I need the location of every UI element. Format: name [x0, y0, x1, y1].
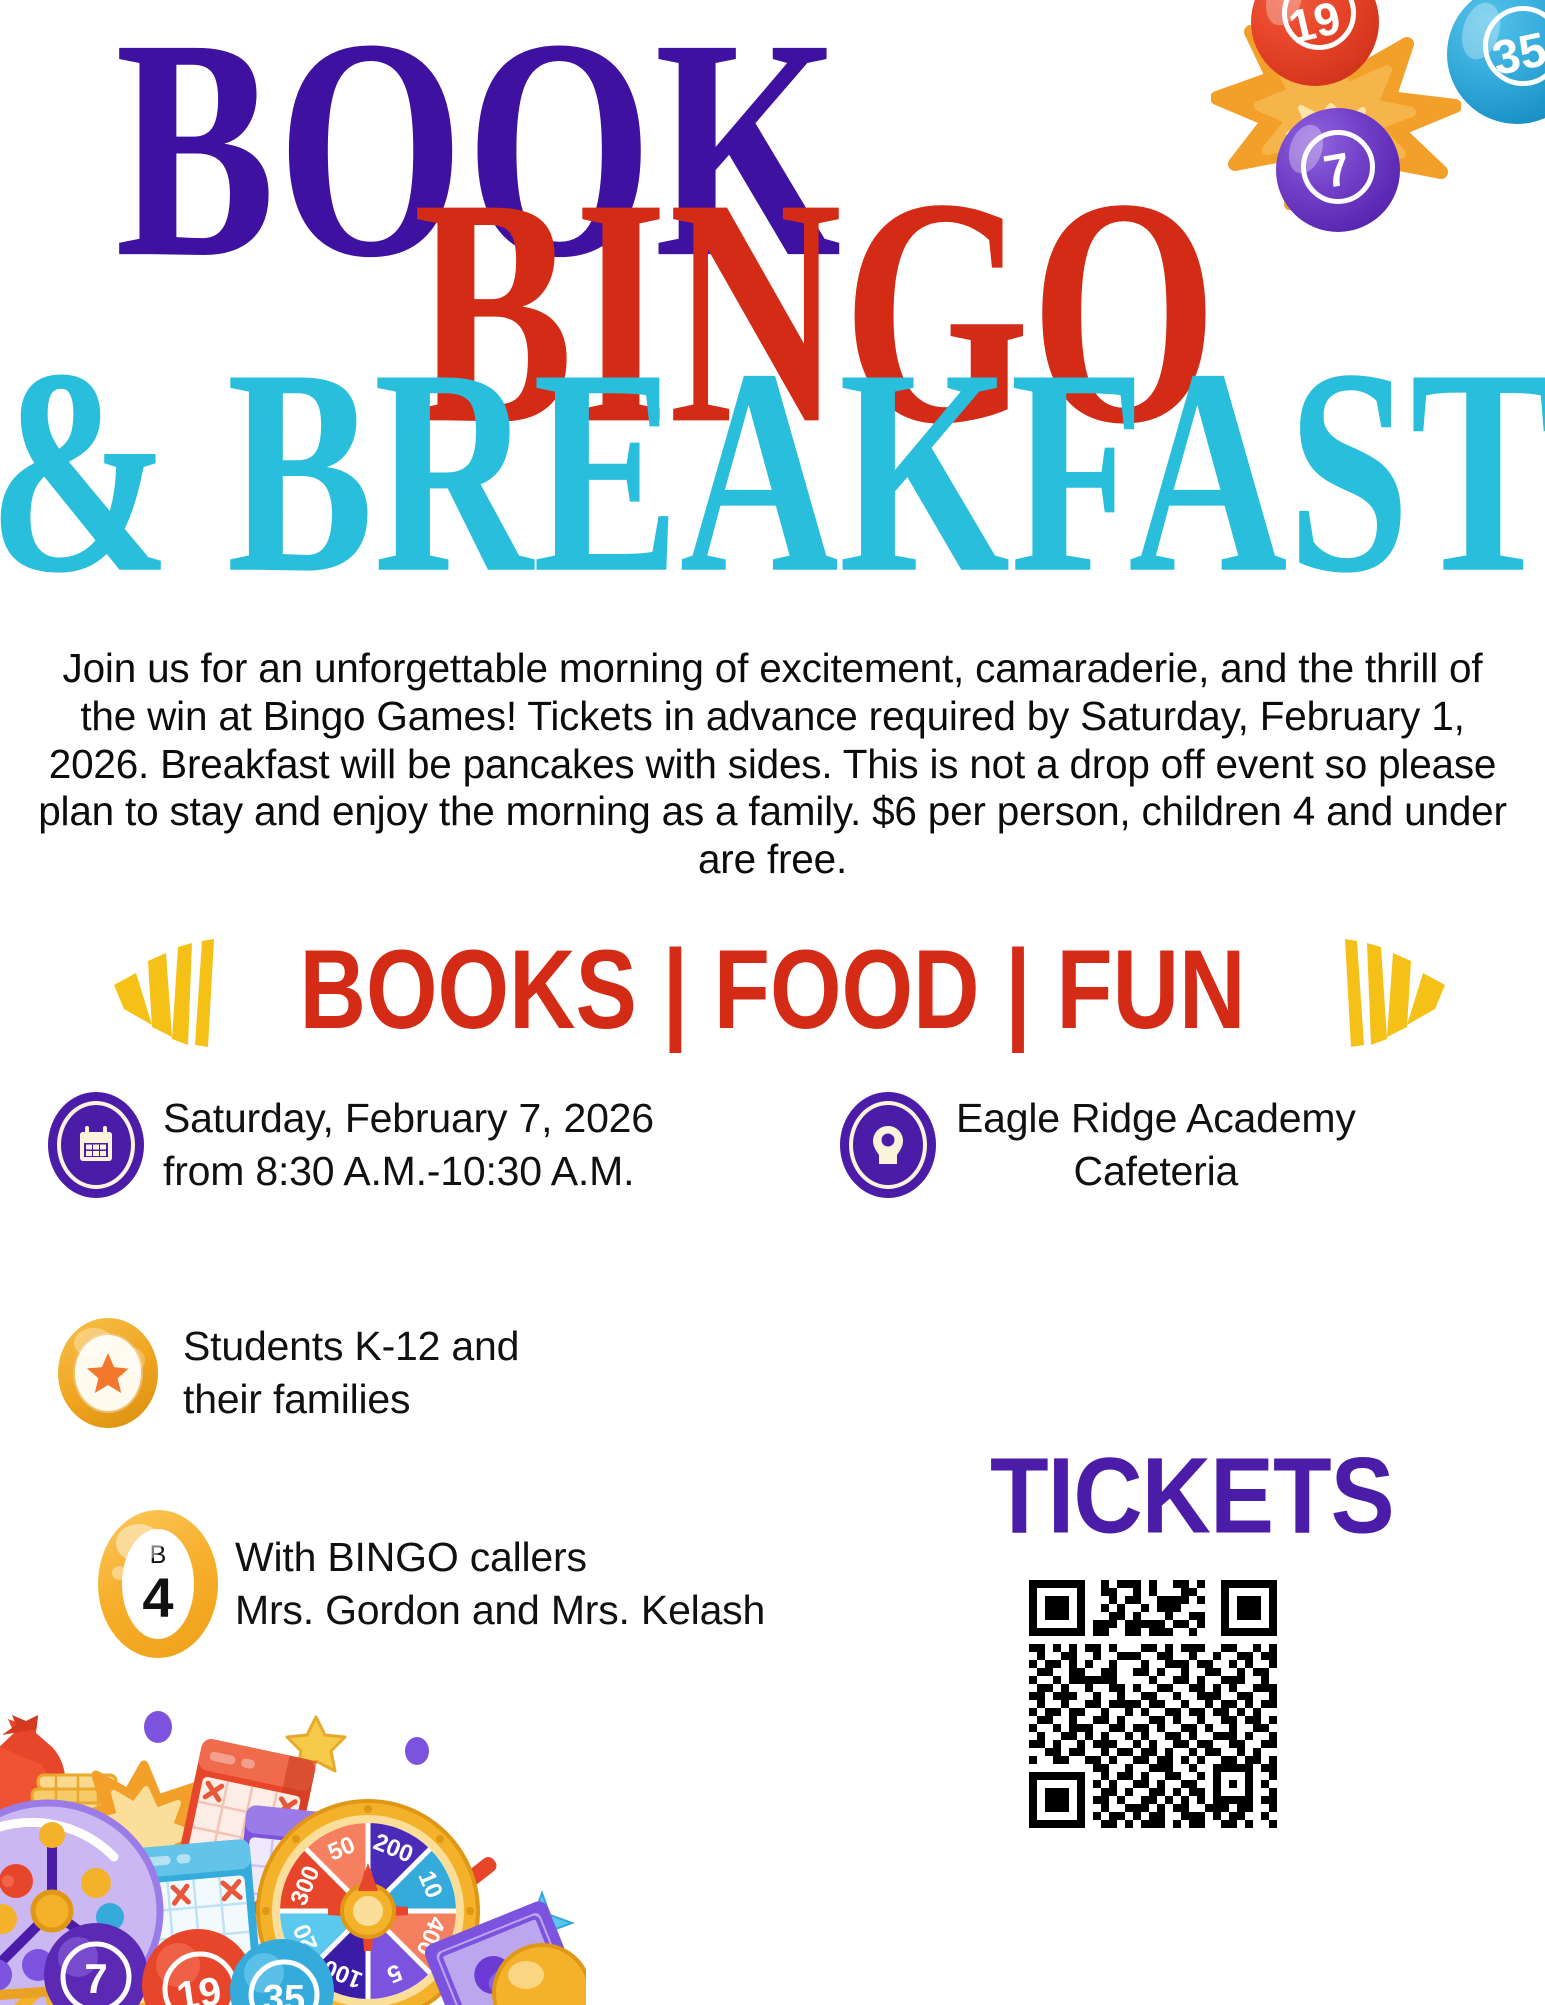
- detail-text-date: Saturday, February 7, 2026 from 8:30 A.M…: [163, 1092, 654, 1199]
- detail-text-location: Eagle Ridge Academy Cafeteria: [956, 1092, 1356, 1199]
- body-paragraph: Join us for an unforgettable morning of …: [30, 645, 1515, 884]
- detail-location-line1: Eagle Ridge Academy: [956, 1092, 1356, 1145]
- detail-row-audience: Students K-12 and their families: [58, 1318, 519, 1428]
- decoration-bingo-ball-7: 7: [1276, 108, 1400, 232]
- calendar-icon: [48, 1092, 144, 1198]
- detail-callers-line1: With BINGO callers: [235, 1531, 765, 1584]
- svg-text:7: 7: [84, 1955, 107, 2002]
- detail-audience-line2: their families: [183, 1373, 519, 1426]
- star-medal-icon: [58, 1318, 158, 1428]
- bingo-ball-b4-icon: B 4: [98, 1510, 218, 1658]
- ball-number: 19: [1284, 0, 1346, 54]
- bingo-ball-number: 4: [142, 1570, 173, 1626]
- detail-location-line2: Cafeteria: [956, 1145, 1356, 1198]
- detail-text-audience: Students K-12 and their families: [183, 1320, 519, 1427]
- svg-text:35: 35: [263, 1978, 305, 2005]
- bingo-illustration-decoration: 200 10 400 5 100 20 300 50 7: [0, 1675, 586, 2005]
- ball-number: 35: [1488, 22, 1545, 87]
- tagline-text: BOOKS | FOOD | FUN: [300, 934, 1246, 1046]
- detail-row-location: Eagle Ridge Academy Cafeteria: [840, 1092, 1356, 1199]
- sunburst-rays-right-icon: [1343, 929, 1463, 1051]
- detail-callers-line2: Mrs. Gordon and Mrs. Kelash: [235, 1584, 765, 1637]
- title-line-breakfast: & BREAKFAST: [0, 325, 1545, 619]
- detail-audience-line1: Students K-12 and: [183, 1320, 519, 1373]
- detail-row-date: Saturday, February 7, 2026 from 8:30 A.M…: [48, 1092, 654, 1199]
- decoration-bingo-ball-35: 35: [1447, 0, 1545, 124]
- detail-text-callers: With BINGO callers Mrs. Gordon and Mrs. …: [235, 1531, 765, 1638]
- sunburst-rays-left-icon: [96, 929, 216, 1051]
- svg-text:19: 19: [174, 1969, 224, 2005]
- detail-row-callers: B 4 With BINGO callers Mrs. Gordon and M…: [98, 1510, 765, 1658]
- detail-date-line1: Saturday, February 7, 2026: [163, 1092, 654, 1145]
- detail-date-line2: from 8:30 A.M.-10:30 A.M.: [163, 1145, 654, 1198]
- purple-dot-decoration-2: [405, 1737, 429, 1765]
- location-pin-icon: [840, 1092, 936, 1198]
- tickets-qr-code[interactable]: [1021, 1572, 1285, 1836]
- tagline-row: BOOKS | FOOD | FUN: [0, 915, 1545, 1065]
- qr-code-image[interactable]: [1021, 1572, 1285, 1836]
- bingo-ball-cluster-decoration: 19 35 7: [1221, 0, 1545, 300]
- purple-dot-decoration: [144, 1711, 172, 1743]
- calendar-glyph: [73, 1122, 119, 1168]
- tickets-heading: TICKETS: [990, 1443, 1394, 1551]
- location-pin-glyph: [866, 1122, 910, 1168]
